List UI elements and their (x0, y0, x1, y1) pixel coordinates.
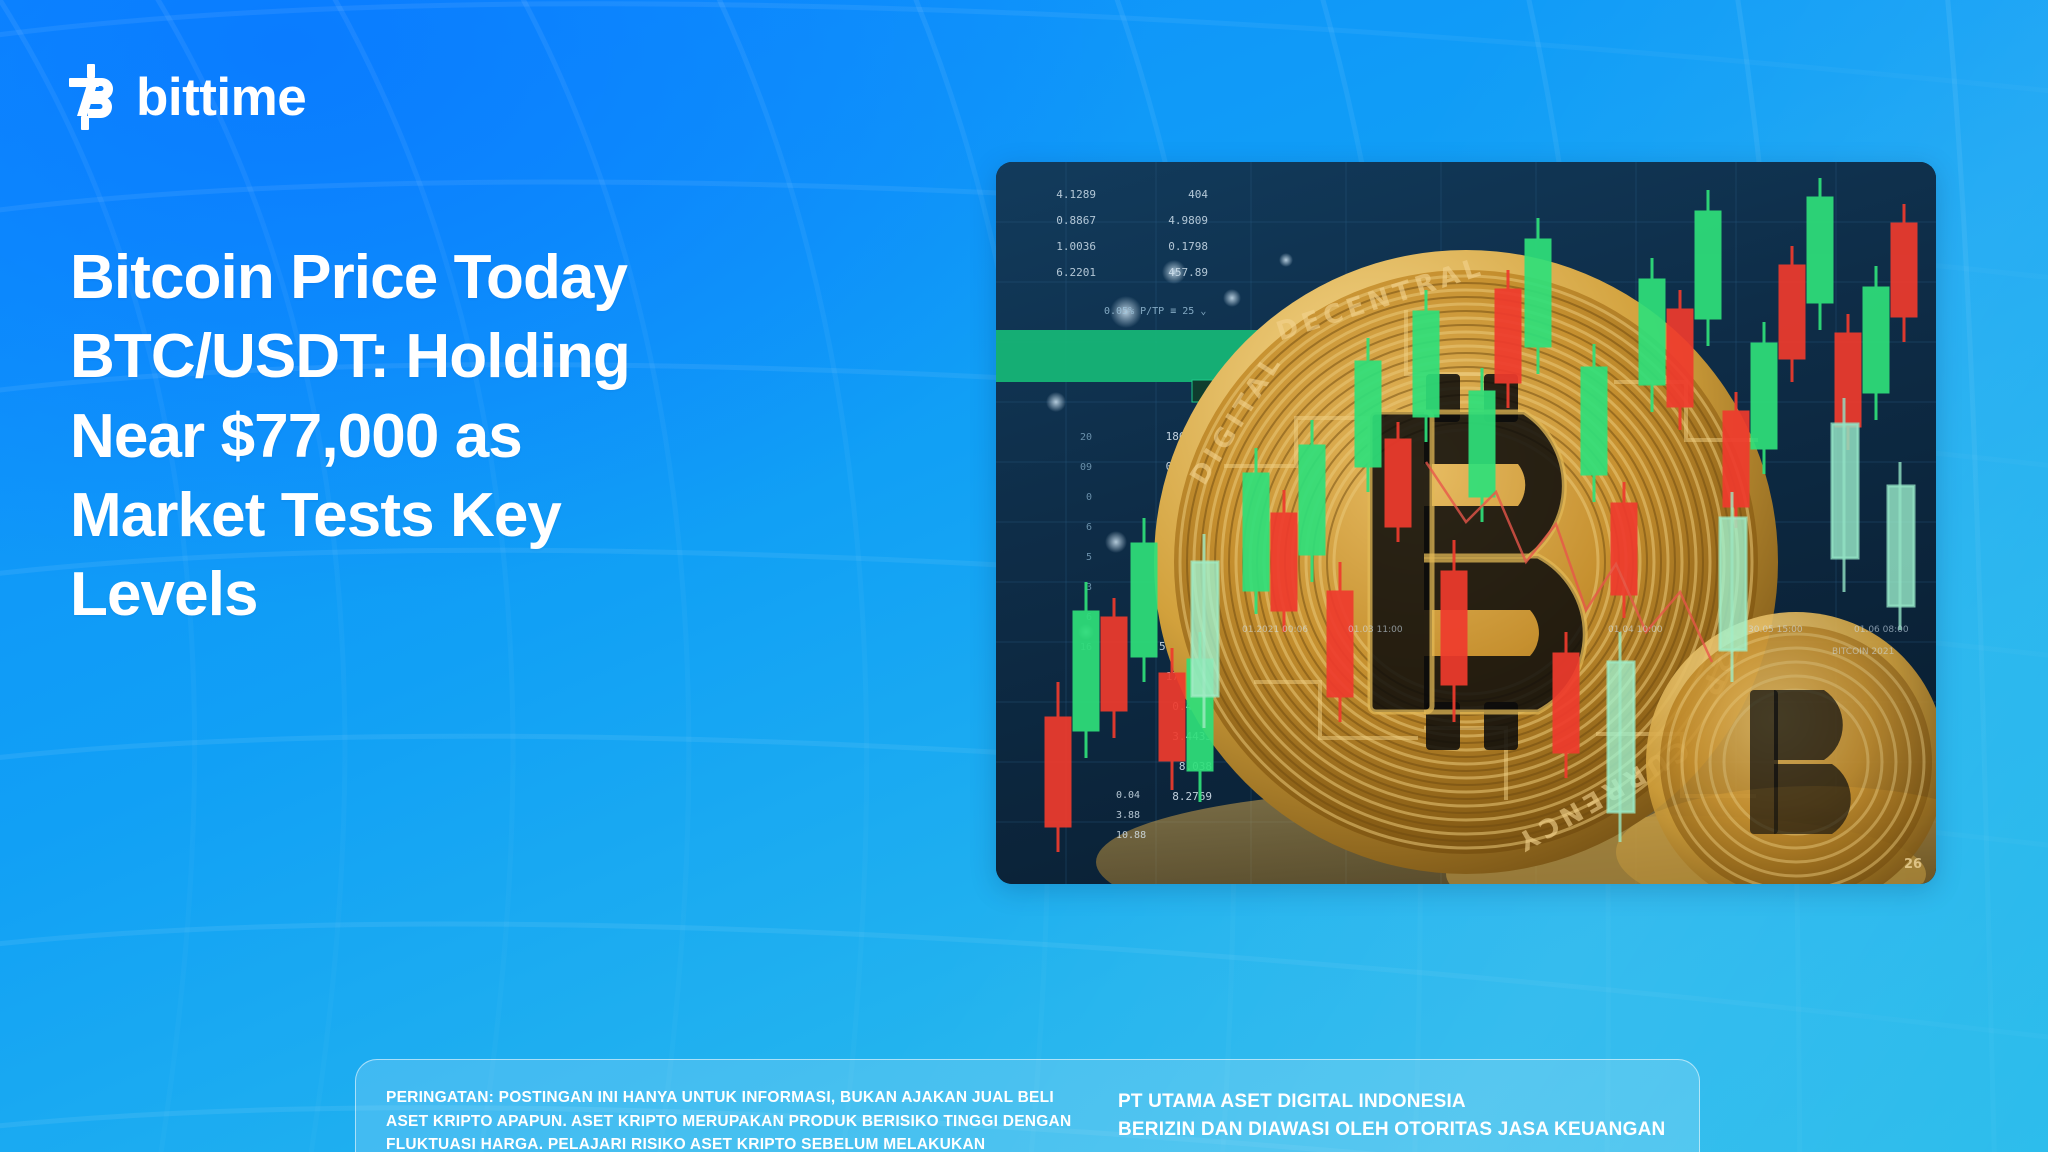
svg-text:6: 6 (1086, 522, 1092, 533)
svg-text:5: 5 (1086, 552, 1092, 563)
footer-disclaimer-panel: PERINGATAN: POSTINGAN INI HANYA UNTUK IN… (355, 1059, 1700, 1152)
svg-text:6.2201: 6.2201 (1056, 266, 1096, 279)
svg-text:26: 26 (1904, 857, 1922, 872)
brand-logo[interactable]: bittime (68, 64, 306, 130)
svg-text:30.05 15:00: 30.05 15:00 (1748, 625, 1803, 635)
svg-text:01.2021 00:06: 01.2021 00:06 (1242, 625, 1308, 635)
svg-text:0: 0 (1086, 492, 1092, 503)
svg-text:4.1289: 4.1289 (1056, 188, 1096, 201)
svg-text:0.04: 0.04 (1116, 790, 1140, 801)
svg-text:457.89: 457.89 (1168, 266, 1208, 279)
hero-image: 4.1289 0.8867 1.0036 6.2201 404 4.9809 0… (996, 162, 1936, 884)
svg-text:10.88: 10.88 (1116, 830, 1146, 841)
brand-name: bittime (136, 71, 306, 124)
svg-text:BITCOIN 2021: BITCOIN 2021 (1832, 647, 1894, 657)
bittime-bitcoin-b-mark-icon (68, 64, 120, 130)
svg-text:8.2769: 8.2769 (1172, 790, 1212, 803)
svg-text:09: 09 (1080, 462, 1092, 473)
page-title: Bitcoin Price Today BTC/USDT: Holding Ne… (70, 238, 710, 635)
legal-company-name: PT UTAMA ASET DIGITAL INDONESIA (1118, 1088, 1665, 1116)
svg-text:0.8867: 0.8867 (1056, 214, 1096, 227)
svg-text:0.05% P/TP ≡ 25 ⌄: 0.05% P/TP ≡ 25 ⌄ (1104, 306, 1206, 317)
svg-text:3.88: 3.88 (1116, 810, 1140, 821)
risk-disclaimer-text: PERINGATAN: POSTINGAN INI HANYA UNTUK IN… (386, 1086, 1076, 1152)
svg-text:4.9809: 4.9809 (1168, 214, 1208, 227)
svg-text:20: 20 (1080, 432, 1092, 443)
legal-entity-block: PT UTAMA ASET DIGITAL INDONESIA BERIZIN … (1118, 1086, 1665, 1143)
svg-text:404: 404 (1188, 188, 1208, 201)
svg-text:01.03 11:00: 01.03 11:00 (1348, 625, 1403, 635)
svg-text:01.06 08:00: 01.06 08:00 (1854, 625, 1909, 635)
svg-text:1.0036: 1.0036 (1056, 240, 1096, 253)
svg-text:0.1798: 0.1798 (1168, 240, 1208, 253)
svg-text:01.04 10:00: 01.04 10:00 (1608, 625, 1663, 635)
legal-regulator-note: BERIZIN DAN DIAWASI OLEH OTORITAS JASA K… (1118, 1116, 1665, 1144)
